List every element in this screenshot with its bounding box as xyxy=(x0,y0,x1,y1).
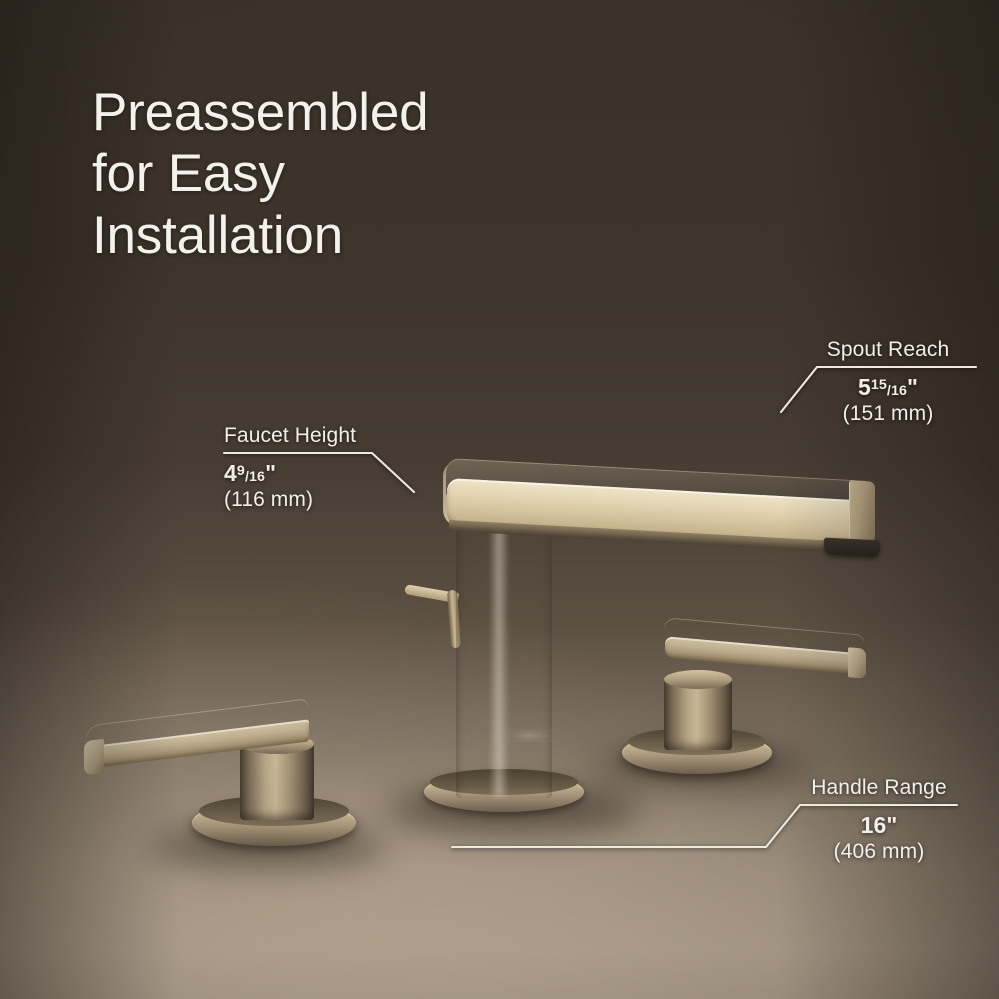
callout-handle-range-title: Handle Range xyxy=(784,776,974,800)
callout-spout-reach: Spout Reach 515/16" (151 mm) xyxy=(800,338,976,426)
callout-faucet-height-title: Faucet Height xyxy=(224,424,414,448)
value-unit: " xyxy=(907,374,918,400)
value-whole: 4 xyxy=(224,460,237,486)
callout-faucet-height-value: 49/16" xyxy=(224,459,414,487)
value-unit: " xyxy=(265,460,276,486)
drain-lift-rod xyxy=(399,584,459,650)
product-image-canvas: Preassembled for Easy Installation Fauce… xyxy=(0,0,999,999)
callout-faucet-height-metric: (116 mm) xyxy=(224,487,414,512)
page-title: Preassembled for Easy Installation xyxy=(92,82,428,266)
left-handle-lever-cap xyxy=(84,739,104,775)
callout-handle-range: Handle Range 16" (406 mm) xyxy=(784,776,974,864)
brand-logo-etch xyxy=(508,729,552,742)
callout-faucet-height: Faucet Height 49/16" (116 mm) xyxy=(224,424,414,512)
value-fraction: 9/16 xyxy=(237,469,265,485)
callout-spout-reach-title: Spout Reach xyxy=(800,338,976,362)
spout-body-highlight xyxy=(489,500,509,796)
aerator-outlet xyxy=(824,538,880,558)
value-whole: 5 xyxy=(858,374,871,400)
value-whole: 16 xyxy=(861,812,887,838)
callout-handle-range-value: 16" xyxy=(784,811,974,839)
value-unit: " xyxy=(886,812,897,838)
callout-handle-range-metric: (406 mm) xyxy=(784,839,974,864)
callout-spout-reach-metric: (151 mm) xyxy=(800,401,976,426)
spout-end-cap xyxy=(849,480,875,543)
callout-spout-reach-value: 515/16" xyxy=(800,373,976,401)
right-handle-collar xyxy=(664,670,732,689)
right-handle-lever-cap xyxy=(848,647,866,679)
value-fraction: 15/16 xyxy=(871,383,907,399)
